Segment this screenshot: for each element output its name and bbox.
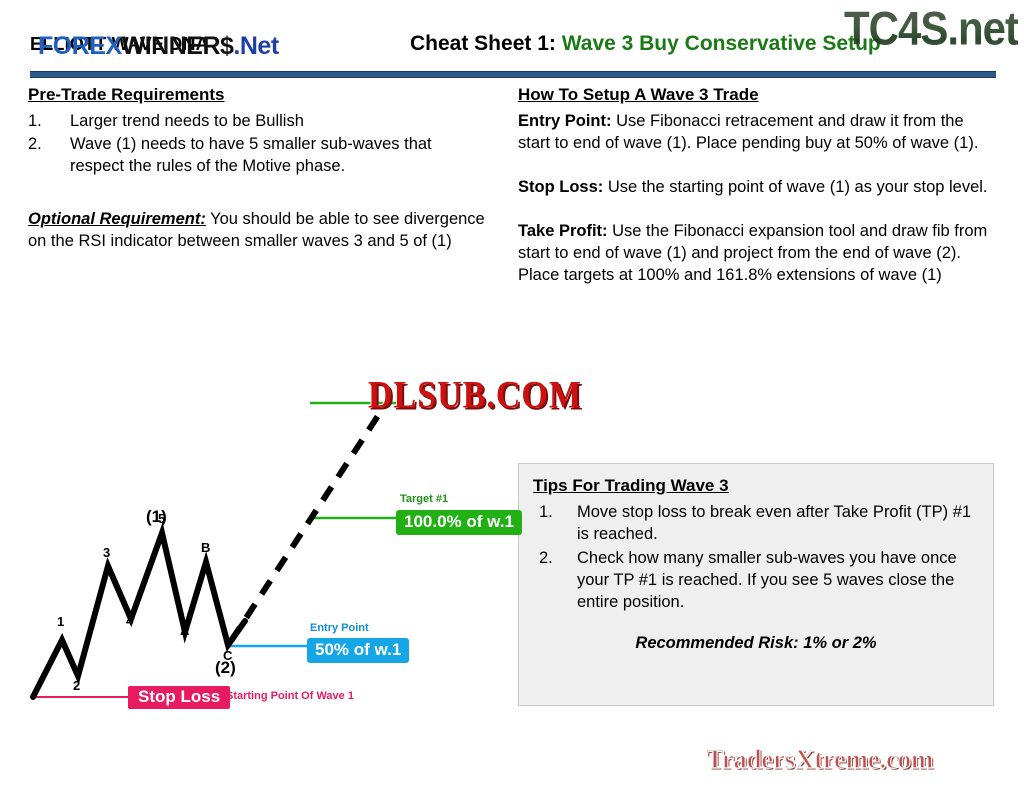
list-item-number: 1. xyxy=(539,502,553,524)
cheat-sheet-heading: Cheat Sheet 1: Wave 3 Buy Conservative S… xyxy=(410,32,881,56)
stop-loss-badge: Stop Loss xyxy=(128,686,230,709)
optional-requirement-label: Optional Requirement: xyxy=(28,210,206,228)
how-to-setup-title: How To Setup A Wave 3 Trade xyxy=(518,84,996,105)
list-item: 1. Larger trend needs to be Bullish xyxy=(28,111,488,133)
list-item-number: 1. xyxy=(28,111,58,133)
wave-label-b: B xyxy=(201,540,210,555)
target-1-badge: 100.0% of w.1 xyxy=(396,510,522,535)
list-item-number: 2. xyxy=(28,134,58,156)
list-item-number: 2. xyxy=(539,548,553,570)
wave-label-1: 1 xyxy=(57,614,64,629)
tips-box: Tips For Trading Wave 3 1. Move stop los… xyxy=(518,463,994,706)
optional-requirement: Optional Requirement: You should be able… xyxy=(28,209,488,253)
entry-point-label: Entry Point: xyxy=(518,112,612,130)
traders-xtreme-logo: TradersXtreme.com xyxy=(706,744,933,775)
list-item: 1. Move stop loss to break even after Ta… xyxy=(533,502,979,546)
stop-loss-text: Use the starting point of wave (1) as yo… xyxy=(603,178,987,196)
dlsub-watermark: DLSUB.COM xyxy=(368,374,582,418)
take-profit-paragraph: Take Profit: Use the Fibonacci expansion… xyxy=(518,221,996,287)
list-item: 2. Check how many smaller sub-waves you … xyxy=(533,548,979,614)
spacer xyxy=(518,155,996,177)
entry-point-caption: Entry Point xyxy=(310,622,369,634)
take-profit-label: Take Profit: xyxy=(518,222,608,240)
forex-winners-logo-part3: .Net xyxy=(233,32,278,60)
list-item-text: Move stop loss to break even after Take … xyxy=(577,503,971,543)
right-column: How To Setup A Wave 3 Trade Entry Point:… xyxy=(518,84,996,287)
pre-trade-requirements-list: 1. Larger trend needs to be Bullish 2. W… xyxy=(28,111,488,178)
tc4s-logo: TC4S.net xyxy=(844,2,1018,56)
forex-winners-logo-part1: FOREX xyxy=(38,32,122,60)
recommended-risk-note: Recommended Risk: 1% or 2% xyxy=(533,634,979,653)
forex-winners-logo-part2: WINNER$ xyxy=(122,32,234,60)
cheat-sheet-prefix: Cheat Sheet 1: xyxy=(410,32,556,55)
wave-label-3: 3 xyxy=(103,545,110,560)
entry-point-paragraph: Entry Point: Use Fibonacci retracement a… xyxy=(518,111,996,155)
target-1-caption: Target #1 xyxy=(400,493,448,505)
cheat-sheet-page: ELLIOTT WAVE DNA Cheat Sheet 1: Wave 3 B… xyxy=(0,0,1024,791)
left-column: Pre-Trade Requirements 1. Larger trend n… xyxy=(28,84,488,253)
cheat-sheet-highlight: Wave 3 Buy Conservative Setup xyxy=(562,32,881,55)
tips-box-title: Tips For Trading Wave 3 xyxy=(533,476,979,496)
header-divider xyxy=(30,71,996,78)
wave-label-2: 2 xyxy=(73,678,80,693)
pre-trade-requirements-title: Pre-Trade Requirements xyxy=(28,84,488,105)
wave-label-4: 4 xyxy=(126,613,133,628)
stop-loss-paragraph: Stop Loss: Use the starting point of wav… xyxy=(518,177,996,199)
projected-wave3-dashed-line xyxy=(231,405,385,641)
wave-degree-label-2: (2) xyxy=(215,658,236,678)
spacer xyxy=(518,199,996,221)
list-item-text: Check how many smaller sub-waves you hav… xyxy=(577,549,957,611)
tips-list: 1. Move stop loss to break even after Ta… xyxy=(533,502,979,614)
wave-label-a: A xyxy=(180,623,189,638)
list-item: 2. Wave (1) needs to have 5 smaller sub-… xyxy=(28,134,488,178)
forex-winners-logo: FOREXWINNER$.Net xyxy=(38,32,279,61)
stop-loss-label: Stop Loss: xyxy=(518,178,603,196)
list-item-text: Larger trend needs to be Bullish xyxy=(70,112,304,130)
elliott-wave-path xyxy=(33,533,245,697)
list-item-text: Wave (1) needs to have 5 smaller sub-wav… xyxy=(70,135,432,175)
spacer xyxy=(28,179,488,205)
wave-degree-label-1: (1) xyxy=(146,507,167,527)
stop-loss-caption: Starting Point Of Wave 1 xyxy=(226,690,354,702)
entry-point-badge: 50% of w.1 xyxy=(307,638,409,663)
